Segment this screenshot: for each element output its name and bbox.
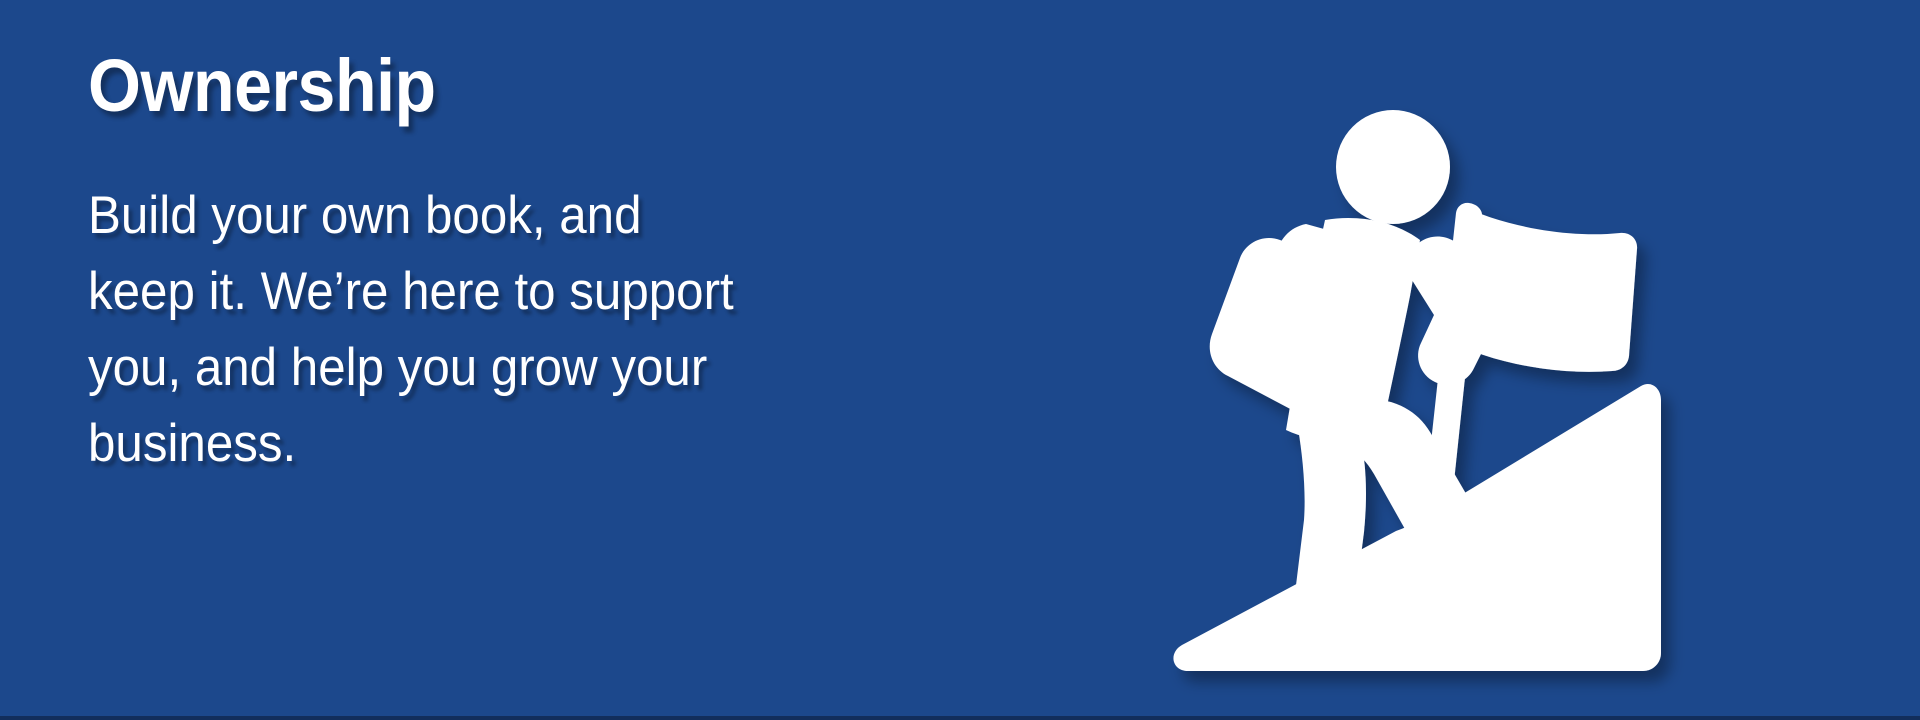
body-line-3: you, and help you grow your	[88, 330, 832, 406]
body-line-2: keep it. We’re here to support	[88, 254, 832, 330]
bottom-edge-divider	[0, 716, 1920, 720]
body-copy: Build your own book, and keep it. We’re …	[88, 126, 832, 482]
head-shape	[1336, 110, 1450, 224]
body-line-4: business.	[88, 406, 832, 482]
ownership-banner: Ownership Build your own book, and keep …	[0, 0, 1920, 720]
page-title: Ownership	[88, 46, 824, 126]
hiker-climbing-to-flag-icon	[1120, 100, 1700, 680]
text-block: Ownership Build your own book, and keep …	[88, 46, 888, 482]
body-line-1: Build your own book, and	[88, 178, 832, 254]
